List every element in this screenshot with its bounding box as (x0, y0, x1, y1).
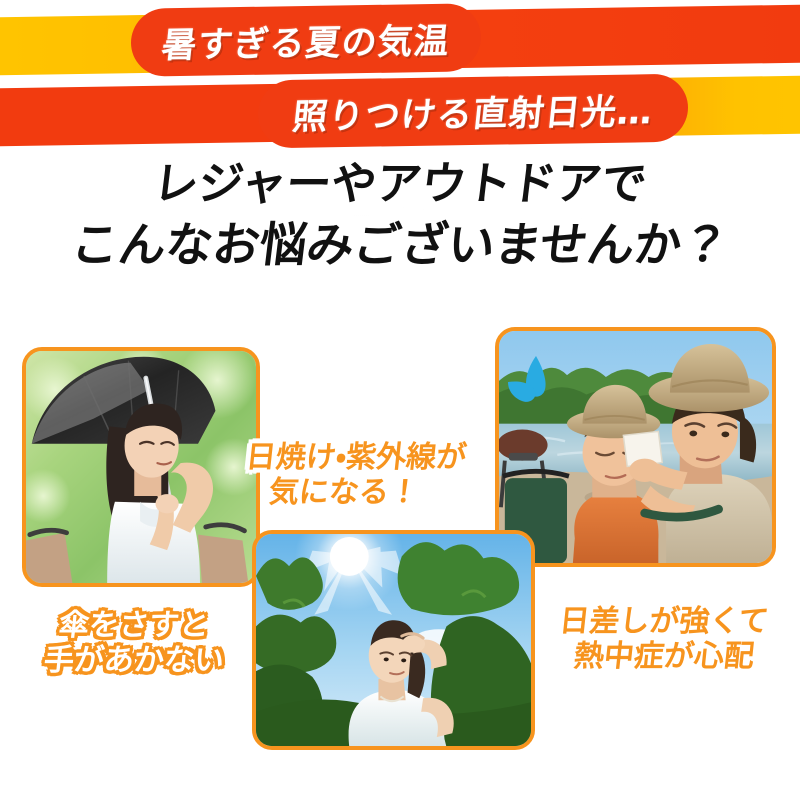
photo-card-parasol-woman (22, 347, 260, 587)
photo-card-sunlight-woman (252, 530, 535, 750)
ribbon-text-sunlight: 照りつける直射日光… (290, 83, 656, 140)
ribbon-pill-heat: 暑すぎる夏の気温 (131, 3, 481, 76)
caption-parasol-hands: 傘をさすと 手があかない (34, 608, 234, 679)
caption-uv-concern-line-2: 気になる！ (230, 475, 458, 510)
headline-line-2: こんなお悩みございませんか？ (0, 221, 800, 270)
caption-parasol-hands-line-1: 傘をさすと (32, 608, 236, 643)
headline-block: レジャーやアウトドアで こんなお悩みございませんか？ (0, 160, 800, 271)
photo-parasol-woman-image (26, 351, 256, 583)
caption-heatstroke-worry-line-2: 熱中症が心配 (547, 639, 781, 674)
ribbon-text-heat: 暑すぎる夏の気温 (159, 12, 452, 68)
caption-uv-concern: 日焼け・紫外線が 気になる！ (246, 440, 456, 511)
caption-heatstroke-worry: 日差しが強くて 熱中症が心配 (549, 604, 779, 675)
ad-banner-root: 暑すぎる夏の気温 照りつける直射日光… レジャーやアウトドアで こんなお悩みござ… (0, 0, 800, 800)
caption-parasol-hands-line-2: 手があかない (32, 643, 236, 678)
caption-uv-concern-line-1: 日焼け・紫外線が (244, 440, 458, 475)
headline-line-1: レジャーやアウトドアで (0, 160, 800, 207)
photo-sunlight-woman-image (256, 534, 531, 746)
ribbon-pill-sunlight: 照りつける直射日光… (258, 74, 688, 149)
sweat-droplet-icon (500, 352, 562, 414)
caption-heatstroke-worry-line-1: 日差しが強くて (547, 604, 781, 639)
